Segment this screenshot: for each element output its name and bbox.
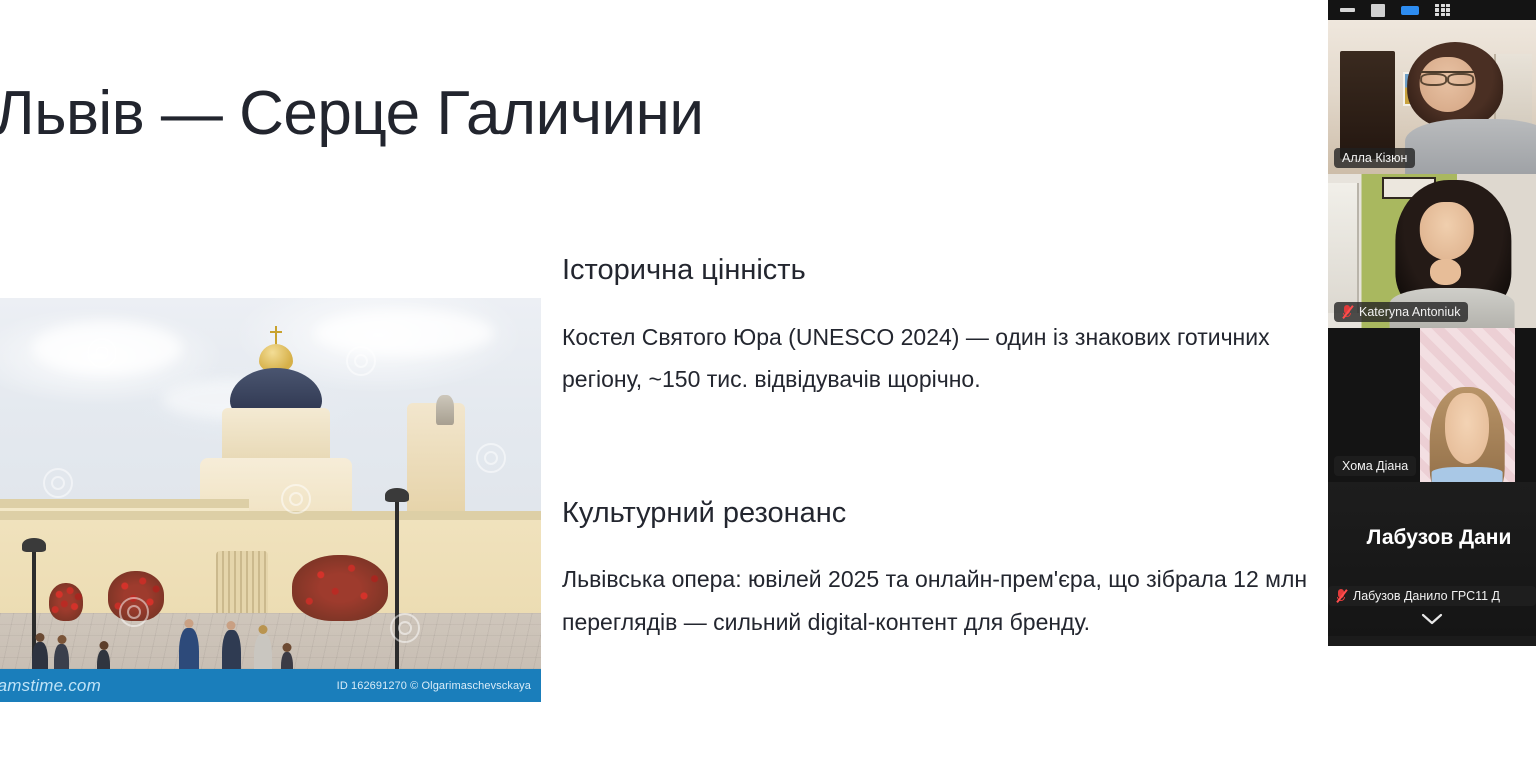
mic-muted-icon	[1342, 305, 1353, 319]
photo-artwork	[0, 298, 541, 702]
participant-name-chip: Алла Кізюн	[1334, 148, 1415, 168]
watermark-spiral	[43, 468, 73, 498]
cross	[275, 326, 277, 346]
watermark-spiral	[390, 613, 420, 643]
minimize-icon[interactable]	[1340, 8, 1355, 12]
participant-name-chip: Лабузов Данило ГРС11 Д	[1328, 586, 1536, 606]
dome-drum	[222, 408, 330, 464]
lamp-post	[395, 502, 399, 670]
photo-watermark-bar: eamstime.com ID 162691270 © Olgarimasche…	[0, 669, 541, 702]
watermark-credit: ID 162691270 © Olgarimaschevsckaya	[337, 680, 531, 692]
participant-tile-labuzov-danylo[interactable]: Лабузов Дани Лабузов Данило ГРС11 Д	[1328, 482, 1536, 636]
participant-name: Лабузов Данило ГРС11 Д	[1353, 589, 1500, 603]
participant-name: Хома Діана	[1342, 459, 1408, 473]
page-title: Львів — Серце Галичини	[0, 78, 704, 149]
chevron-down-icon[interactable]	[1328, 608, 1536, 630]
participant-name-chip: Kateryna Antoniuk	[1334, 302, 1468, 322]
flower-bush	[292, 555, 388, 621]
mic-muted-icon	[1336, 589, 1347, 603]
participant-tile-alla-kizyun[interactable]: Алла Кізюн	[1328, 20, 1536, 174]
speaker-view-icon[interactable]	[1401, 6, 1419, 15]
participant-tile-khoma-diana[interactable]: Хома Діана	[1328, 328, 1536, 482]
video-call-panel[interactable]: Алла Кізюн Kateryna	[1328, 0, 1536, 646]
call-toolbar	[1328, 0, 1536, 20]
watermark-spiral	[87, 338, 117, 368]
participant-tiles: Алла Кізюн Kateryna	[1328, 20, 1536, 636]
flower-bush	[49, 583, 83, 621]
participant-tile-kateryna-antoniuk[interactable]: Kateryna Antoniuk	[1328, 174, 1536, 328]
statue	[436, 395, 454, 425]
participant-name: Kateryna Antoniuk	[1359, 305, 1460, 319]
screen-root: Львів — Серце Галичини	[0, 0, 1536, 768]
gate	[216, 551, 268, 613]
watermark-spiral	[119, 597, 149, 627]
presentation-slide: Львів — Серце Галичини	[0, 0, 1536, 768]
watermark-spiral	[281, 484, 311, 514]
gallery-view-icon[interactable]	[1435, 4, 1450, 17]
watermark-brand: eamstime.com	[0, 676, 101, 696]
maximize-icon[interactable]	[1371, 4, 1385, 17]
participant-name: Алла Кізюн	[1342, 151, 1407, 165]
slide-photo: eamstime.com ID 162691270 © Olgarimasche…	[0, 298, 541, 702]
camera-off-display-name: Лабузов Дани	[1328, 526, 1536, 550]
participant-name-chip: Хома Діана	[1334, 456, 1416, 476]
